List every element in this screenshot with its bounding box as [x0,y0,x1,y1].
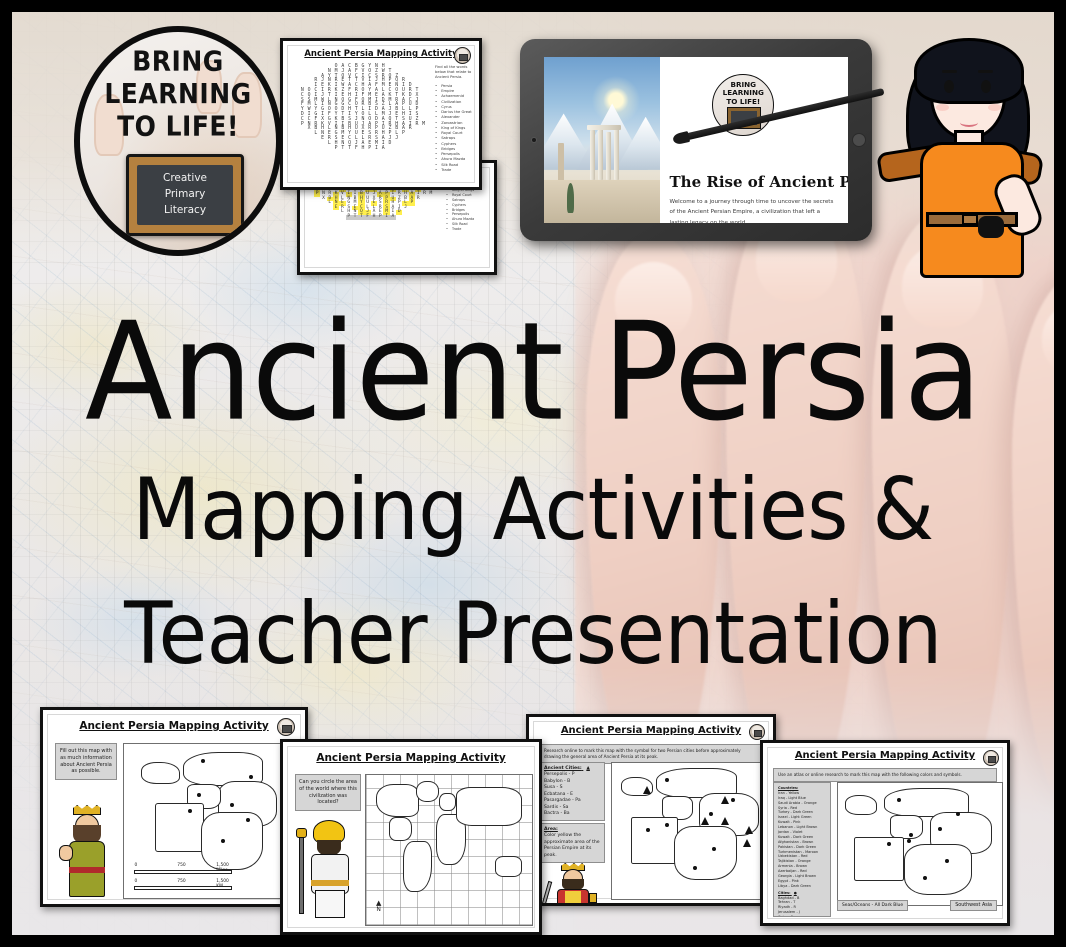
city-legend-item: Bactra - Ba [544,811,600,817]
chalkboard-text: Creative Primary Literacy [137,165,233,225]
teacher-eye-right [981,80,991,93]
city-marker-triangle [721,817,729,825]
slide-image-persian-ruins [544,57,660,223]
coast-greenland [416,781,439,802]
worksheet-4-instruction: Use an atlas or online research to mark … [773,768,997,782]
logo-seal-icon [277,718,295,736]
map-dot [909,833,913,837]
logo-seal-icon [983,750,999,766]
compass-north-label: N [376,907,381,913]
wordsearch-sheet[interactable]: Ancient Persia Mapping Activity OACBGYNH… [280,38,482,190]
countries-color-legend: Countries: Iran - YellowIraq - Light Blu… [773,782,831,917]
column-lintel [587,125,622,130]
logo-line-1: BRING [80,45,276,77]
logo-line-2: LEARNING [80,77,276,109]
king-sash [69,867,105,873]
page-subtitle-1: Mapping Activities & [12,460,1054,559]
worksheet-1-card[interactable]: Ancient Persia Mapping Activity Fill out… [40,707,308,907]
logo-seal-icon [749,724,765,740]
map-dot [897,798,901,802]
compass-rose: ▲ N [376,901,381,913]
soldier-belt [311,880,349,886]
worksheet-1-note: Fill out this map with as much informati… [55,743,117,780]
persian-king-figure [57,805,115,901]
triangle-icon: ▲ [586,766,590,771]
coast-arabia [904,844,973,895]
grid-cell: T [346,147,353,152]
coast-arabia [201,812,264,871]
city-legend-item: Cairo - C [778,915,826,917]
column-1 [590,130,595,180]
grid-cell: H [360,147,367,152]
warrior-chest-plate [565,891,581,905]
coast-asia [456,787,522,826]
city-marker-triangle [743,839,751,847]
coast-egypt [854,837,903,881]
cover-inner-frame: BRING LEARNING TO LIFE! Creative Primary… [12,12,1054,935]
grid-cell [326,147,333,152]
word-list-item: Trade [435,168,479,173]
brand-logo-badge: BRING LEARNING TO LIFE! Creative Primary… [74,26,282,256]
word-list-item: Trade [446,227,480,232]
grid-cell [420,147,427,152]
coast-egypt [155,803,204,852]
wordsearch-wordlist: Find all the words below that relate to … [435,65,479,173]
teacher-eye-left [944,80,954,93]
grid-cell [319,147,326,152]
persian-soldier-figure [297,820,359,924]
teacher-hair-front [914,38,1024,104]
coast-north-america [376,784,419,817]
scale-miles-0: 0 [134,863,137,868]
grid-cell [407,147,414,152]
seas-oceans-tag: Seas/Oceans - All Dark Blue [837,900,908,911]
grid-cell: P [333,147,340,152]
teacher-brow-right [978,70,993,73]
tablet-home-button[interactable] [852,133,866,147]
worksheet-2-card[interactable]: Ancient Persia Mapping Activity Can you … [280,739,542,935]
map-dot [731,798,735,802]
grid-cell [414,147,421,152]
worksheet-1-map[interactable]: 0 750 1,500 Miles 0 750 1,500 KM [123,743,299,899]
coast-levant [890,815,923,839]
worksheet-3-title: Ancient Persia Mapping Activity [529,725,773,736]
country-legend-item: Libya - Dark Green [778,884,826,889]
map-dot [246,818,250,822]
worksheet-3-map[interactable] [611,762,769,900]
coast-greece [845,795,878,815]
grid-cell [400,147,407,152]
logo-seal-icon [454,47,471,64]
chalkboard-line-1: Creative [163,171,207,187]
area-text: Color yellow the approximate area of the… [544,833,600,859]
coast-arabia [674,826,736,880]
scale-miles-mid: 750 [177,863,185,868]
logo-text: BRING LEARNING TO LIFE! [80,45,276,142]
city-marker-triangle [701,817,709,825]
countries-list: Iran - YellowIraq - Light BlueSaudi Arab… [778,791,826,889]
worksheet-2-title: Ancient Persia Mapping Activity [283,752,539,764]
page-subtitle-2: Teacher Presentation [12,584,1054,683]
grid-cell: T [339,147,346,152]
cities-heading-label: Ancient Cities: [544,766,582,771]
coast-egypt [631,817,678,863]
cities-list: Persepolis - PBabylon - BSusa - SEcbatan… [544,772,600,817]
chalkboard-line-2: Primary [165,187,206,203]
teacher-hand-on-hip [978,216,1004,238]
page-title: Ancient Persia [12,294,1054,452]
coast-australia [495,856,522,877]
warrior-sword [542,881,552,905]
persian-warrior-figure [543,863,601,906]
map-dot [230,803,234,807]
column-2 [598,127,603,180]
teacher-cheek-right [988,104,1001,111]
chalkboard-line-3: Literacy [164,203,206,219]
staff-finial [296,828,307,838]
worksheet-2-note: Can you circle the area of the world whe… [295,774,361,811]
ancient-cities-legend: Ancient Cities: ▲ Persepolis - PBabylon … [539,762,605,821]
teacher-illustration [874,26,1054,278]
product-cover: BRING LEARNING TO LIFE! Creative Primary… [0,0,1066,947]
tablet-device[interactable]: BRING LEARNING TO LIFE! The Rise of Anci… [520,39,872,241]
pillar-left [558,143,564,183]
worksheet-1-title: Ancient Persia Mapping Activity [43,720,305,732]
grid-cell [299,147,306,152]
city-marker-triangle [643,786,651,794]
coast-europe [439,793,456,811]
grid-cell [312,147,319,152]
slide-logo-text: BRING LEARNING TO LIFE! [713,81,773,107]
city-marker-triangle [745,826,753,834]
worksheet-4-map[interactable] [837,782,1003,906]
scale-miles-max: 1,500 Miles [216,863,232,873]
warrior-horn [589,893,597,903]
soldier-tunic [311,854,349,894]
wordsearch-grid: OACBGYNHNMJAFVOZWTAYTOVCICSROZRJNRETTVIJ… [299,65,427,151]
worksheet-3-instruction: Research online to mark this map with th… [539,744,763,764]
worksheet-2-world-map[interactable]: ▲ N [365,774,533,926]
map-dot [665,823,669,827]
region-tag: Southwest Asia [950,900,997,911]
w4-cities-list: Baghdad - BTehran - TRiyadh - RJerusalem… [778,896,826,917]
map-dot [938,827,942,831]
city-marker-triangle [721,796,729,804]
grid-cell: A [380,147,387,152]
worksheet-4-title: Ancient Persia Mapping Activity [763,750,1007,761]
tablet-camera-icon [531,137,537,143]
slide-body-text: Welcome to a journey through time to unc… [670,197,836,223]
word-list: PersiaEmpireAchaemenidCivilizationCyrusD… [435,84,479,173]
grid-cell [393,147,400,152]
map-dot [907,839,911,843]
column-4 [614,128,619,179]
tablet-screen[interactable]: BRING LEARNING TO LIFE! The Rise of Anci… [544,57,848,223]
grid-cell [306,147,313,152]
coast-central-america [389,817,412,841]
wordsearch-instruction: Find all the words below that relate to … [435,65,479,80]
map-dot [665,778,669,782]
soldier-skirt [315,890,345,918]
teacher-belt-buckle [962,214,978,225]
w4-cities-heading-label: Cities: [778,891,791,895]
grid-cell [428,215,434,220]
area-instruction-box: Area: Color yellow the approximate area … [539,823,605,863]
soldier-staff [299,834,304,914]
column-3 [606,132,611,180]
map-dot [945,859,949,863]
dot-icon: ● [794,891,797,895]
map-dot [709,812,713,816]
scale-km-0: 0 [134,879,137,884]
teacher-mouth [960,118,978,127]
map-dot [923,876,927,880]
grid-cell [387,147,394,152]
grid-cell: F [353,147,360,152]
logo-line-3: TO LIFE! [80,110,276,142]
scale-km-mid: 750 [177,879,185,884]
foreground-ground [544,180,660,223]
chalkboard: Creative Primary Literacy [126,154,244,236]
slide-heading: The Rise of Ancient Persia [670,173,840,191]
coast-greece [141,762,179,784]
map-dot [887,842,891,846]
grid-cell: P [366,147,373,152]
grid-cell: I [373,147,380,152]
cypress-tree [567,183,574,213]
worksheet-3-card[interactable]: Ancient Persia Mapping Activity Research… [526,714,776,906]
teacher-cheek-left [936,104,949,111]
slide-logo-line-3: TO LIFE! [713,98,773,107]
worksheet-4-card[interactable]: Ancient Persia Mapping Activity Use an a… [760,740,1010,926]
teacher-brow-left [942,70,957,73]
scale-km-max: 1,500 KM [216,879,232,889]
wordsearch-title: Ancient Persia Mapping Activity [283,49,479,59]
king-hand [59,845,73,861]
